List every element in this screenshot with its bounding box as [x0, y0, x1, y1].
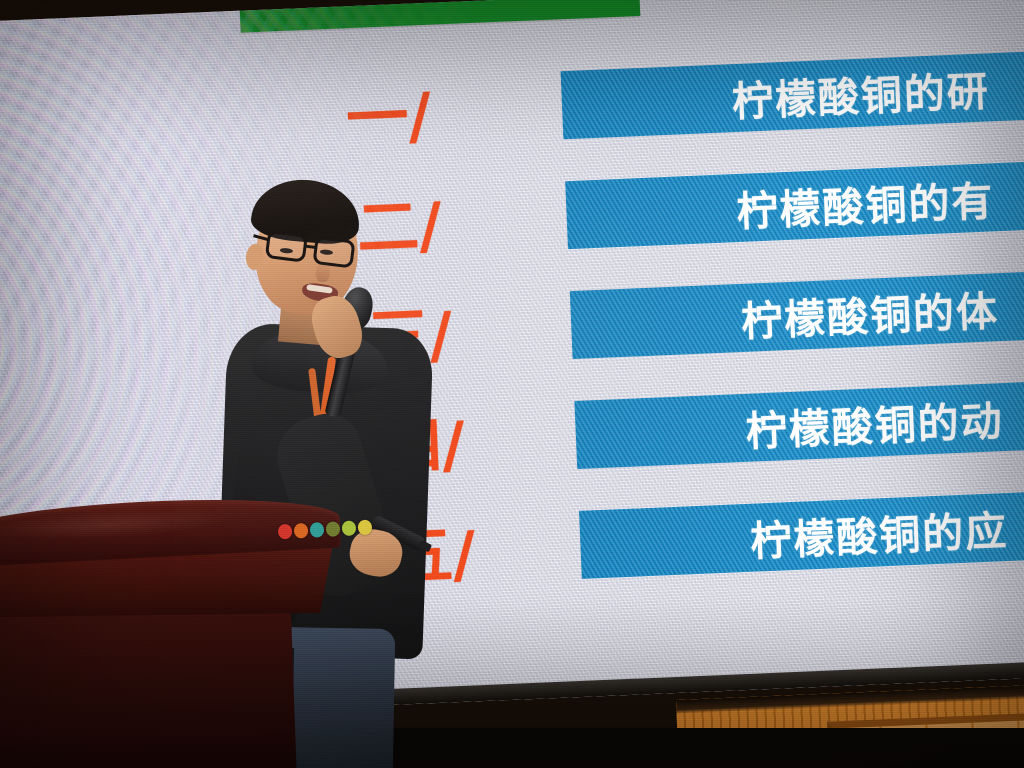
logo-dot-teal	[310, 522, 325, 538]
photo-scene: 一/ 柠檬酸铜的研 二/ 柠檬酸铜的有 三/ 柠檬酸铜的体	[0, 0, 1024, 768]
agenda-item-label: 柠檬酸铜的应	[579, 497, 1009, 575]
podium-body	[0, 604, 297, 768]
agenda-item-label: 柠檬酸铜的研	[561, 57, 991, 135]
speaker-podium	[0, 492, 360, 768]
agenda-numeral: 一/	[345, 85, 432, 150]
logo-dot-orange	[294, 523, 309, 539]
agenda-item-label: 柠檬酸铜的体	[570, 277, 1000, 355]
presenter-teeth	[306, 284, 333, 294]
agenda-item-label: 柠檬酸铜的动	[575, 387, 1005, 465]
agenda-bar: 柠檬酸铜的研	[561, 50, 1024, 140]
logo-dot-yellow	[358, 520, 373, 536]
glasses-lens-left	[265, 230, 308, 263]
logo-dot-lime	[342, 520, 357, 536]
agenda-item-label: 柠檬酸铜的有	[565, 167, 995, 245]
slide-green-banner	[238, 0, 641, 33]
logo-dot-olive	[326, 521, 341, 537]
logo-dot-red	[278, 524, 293, 540]
